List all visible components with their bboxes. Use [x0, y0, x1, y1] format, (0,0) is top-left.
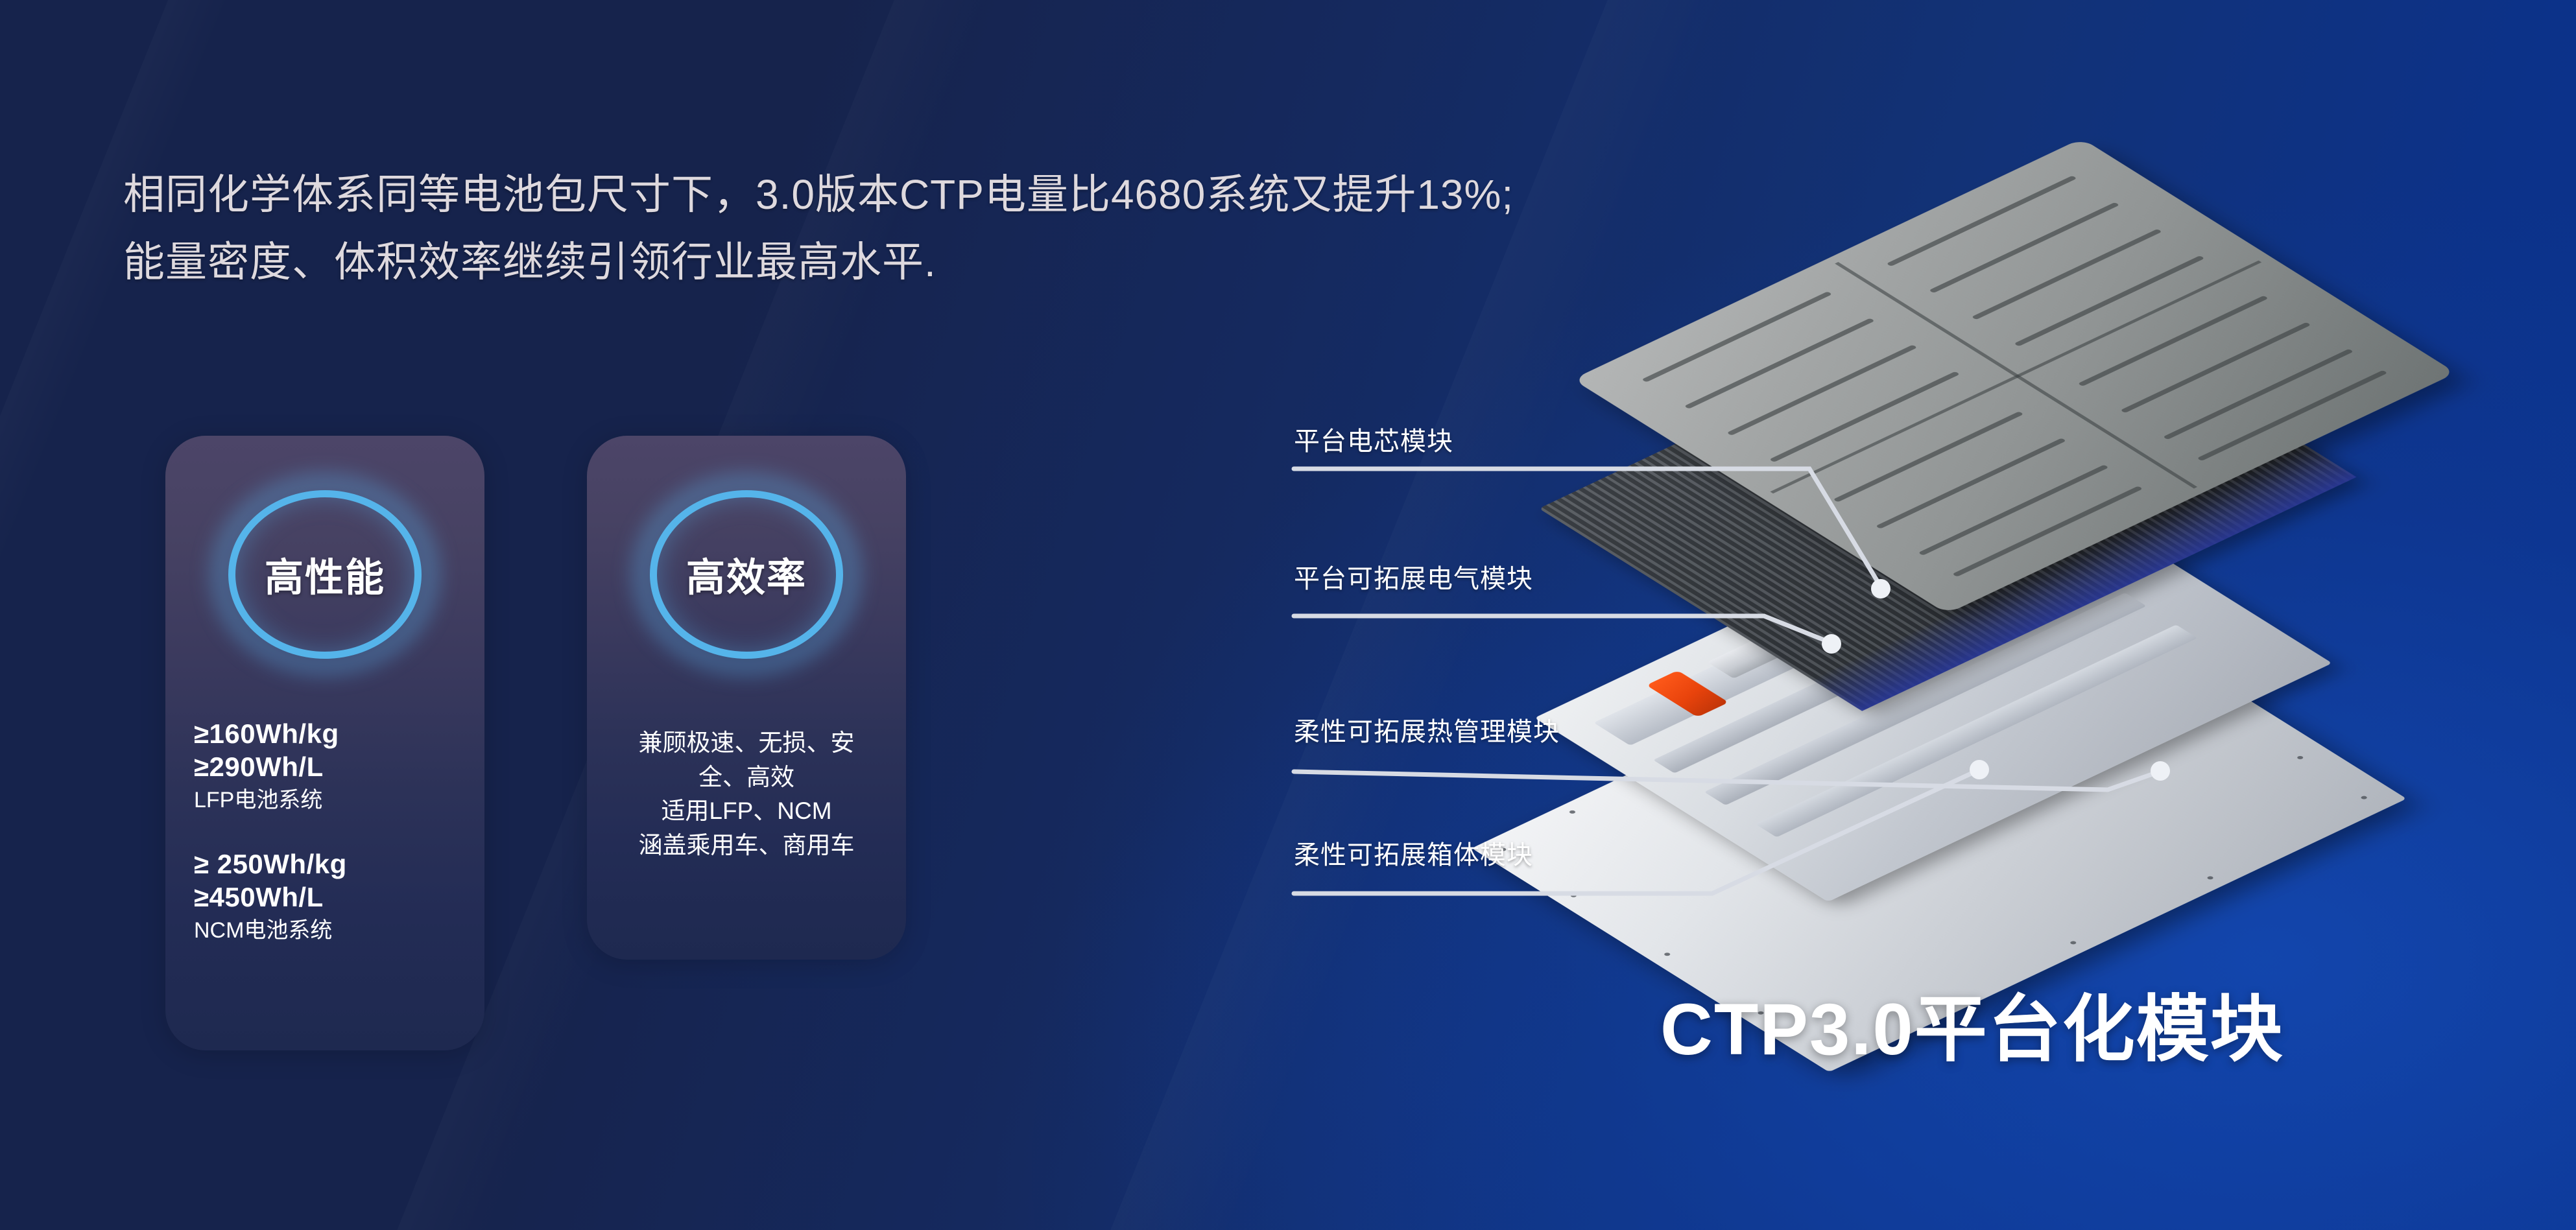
- stat-caption-ncm: NCM电池系统: [194, 916, 456, 945]
- callout-label-housing-module: 柔性可拓展箱体模块: [1294, 834, 1533, 871]
- stat-value-ncm: ≥ 250Wh/kg ≥450Wh/L: [194, 847, 456, 914]
- callout-label-thermal-module: 柔性可拓展热管理模块: [1294, 711, 1560, 748]
- stat-value-lfp: ≥160Wh/kg ≥290Wh/L: [194, 717, 456, 783]
- headline: 相同化学体系同等电池包尺寸下，3.0版本CTP电量比4680系统又提升13%; …: [123, 115, 1615, 342]
- battery-pack-exploded-render: [1472, 188, 2562, 1024]
- ring-label-efficiency: 高效率: [650, 547, 843, 603]
- slide-canvas: 相同化学体系同等电池包尺寸下，3.0版本CTP电量比4680系统又提升13%; …: [0, 0, 2576, 1230]
- feature-card-performance[interactable]: 高性能 ≥160Wh/kg ≥290Wh/L LFP电池系统 ≥ 250Wh/k…: [165, 436, 484, 1050]
- stat-caption-lfp: LFP电池系统: [194, 786, 456, 814]
- stat-block-ncm: ≥ 250Wh/kg ≥450Wh/L NCM电池系统: [194, 847, 456, 945]
- efficiency-bullet-1: 兼顾极速、无损、安 全、高效: [606, 726, 887, 794]
- feature-card-efficiency[interactable]: 高效率 兼顾极速、无损、安 全、高效 适用LFP、NCM 涵盖乘用车、商用车: [587, 436, 906, 960]
- ring-badge-performance: 高性能: [228, 490, 422, 659]
- callout-label-electrical-module: 平台可拓展电气模块: [1294, 558, 1533, 595]
- stat-block-lfp: ≥160Wh/kg ≥290Wh/L LFP电池系统: [194, 717, 456, 815]
- headline-line-2: 能量密度、体积效率继续引领行业最高水平.: [123, 236, 1615, 289]
- ring-label-performance: 高性能: [228, 547, 422, 603]
- product-title: CTP3.0平台化模块: [1660, 971, 2284, 1076]
- performance-stats: ≥160Wh/kg ≥290Wh/L LFP电池系统 ≥ 250Wh/kg ≥4…: [165, 717, 484, 977]
- callout-label-cell-module: 平台电芯模块: [1294, 420, 1453, 458]
- efficiency-bullet-3: 涵盖乘用车、商用车: [606, 829, 887, 863]
- efficiency-bullet-2: 适用LFP、NCM: [606, 794, 887, 829]
- headline-line-1: 相同化学体系同等电池包尺寸下，3.0版本CTP电量比4680系统又提升13%;: [123, 171, 1514, 218]
- ring-badge-efficiency: 高效率: [650, 490, 843, 659]
- efficiency-bullets: 兼顾极速、无损、安 全、高效 适用LFP、NCM 涵盖乘用车、商用车: [587, 726, 906, 862]
